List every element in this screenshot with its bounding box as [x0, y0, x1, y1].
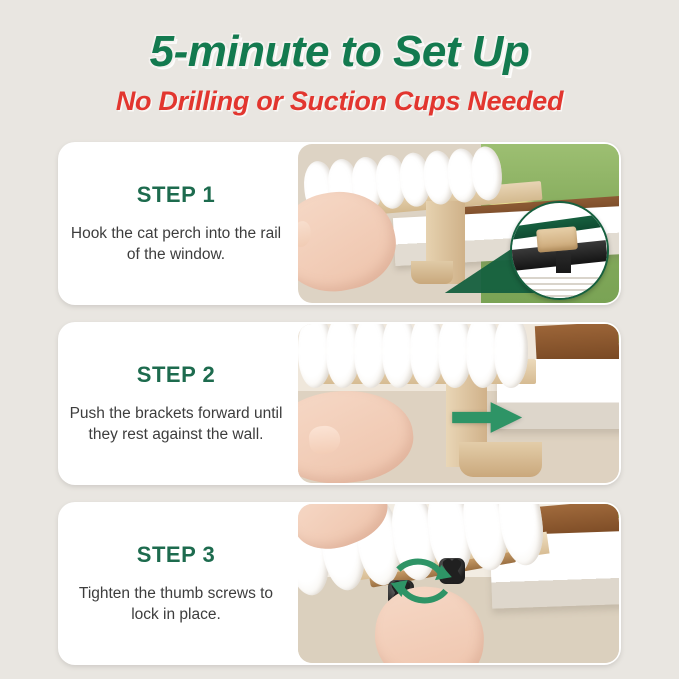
step-1-photo — [298, 144, 619, 303]
step-3-text-block: STEP 3 Tighten the thumb screws to lock … — [58, 502, 298, 665]
step-card-3: STEP 3 Tighten the thumb screws to lock … — [58, 502, 621, 665]
step-2-description: Push the brackets forward until they res… — [64, 404, 288, 445]
step-3-photo — [298, 504, 619, 663]
steps-list: STEP 1 Hook the cat perch into the rail … — [58, 142, 621, 665]
step-1-text-block: STEP 1 Hook the cat perch into the rail … — [58, 142, 298, 305]
detail-inset-circle-icon — [510, 201, 609, 300]
step-2-text-block: STEP 2 Push the brackets forward until t… — [58, 322, 298, 485]
step-2-photo — [298, 324, 619, 483]
green-rotation-arrows-icon — [362, 542, 478, 618]
thumb — [298, 219, 313, 247]
inset-wood-hook — [536, 226, 578, 252]
page-subtitle: No Drilling or Suction Cups Needed — [0, 88, 679, 115]
page-title: 5-minute to Set Up — [0, 30, 679, 74]
green-right-arrow-icon — [439, 400, 535, 435]
bracket-foot — [459, 442, 542, 477]
perch-bracket — [426, 201, 465, 284]
fingers — [308, 424, 342, 455]
step-3-heading: STEP 3 — [137, 542, 215, 568]
step-1-heading: STEP 1 — [137, 182, 215, 208]
step-2-heading: STEP 2 — [137, 362, 215, 388]
step-card-2: STEP 2 Push the brackets forward until t… — [58, 322, 621, 485]
step-3-description: Tighten the thumb screws to lock in plac… — [64, 584, 288, 625]
step-card-1: STEP 1 Hook the cat perch into the rail … — [58, 142, 621, 305]
header: 5-minute to Set Up No Drilling or Suctio… — [0, 0, 679, 115]
inset-sill-lines — [512, 273, 607, 298]
perch-cushion — [298, 324, 522, 388]
step-1-description: Hook the cat perch into the rail of the … — [64, 224, 288, 265]
